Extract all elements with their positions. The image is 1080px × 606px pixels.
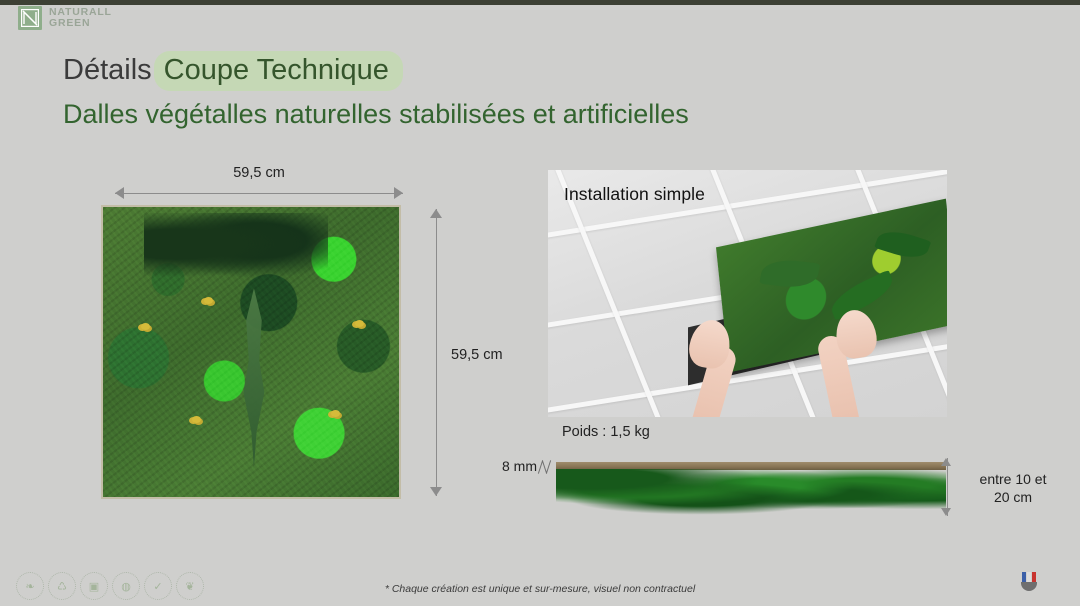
yellow-flower [192, 416, 201, 423]
installation-photo: Installation simple [548, 170, 947, 417]
badge-check: ✓ [144, 572, 172, 600]
yellow-flower [355, 320, 364, 327]
arrow-down-icon [941, 508, 951, 516]
badge-recycle: ♺ [48, 572, 76, 600]
depth-dimension [941, 458, 953, 516]
yellow-flower [204, 297, 213, 304]
badge-leaf: ❧ [16, 572, 44, 600]
tile-width-dimension: 59,5 cm [115, 186, 403, 200]
depth-label-line2: 20 cm [958, 489, 1068, 507]
naturall-green-logo-icon [18, 6, 42, 30]
badge-drop: ◍ [112, 572, 140, 600]
page-subtitle: Dalles végétalles naturelles stabilisées… [63, 99, 689, 130]
hanging-foliage [556, 469, 946, 523]
badge-plant: ❦ [176, 572, 204, 600]
certification-badges: ❧ ♺ ▣ ◍ ✓ ❦ [16, 572, 204, 600]
dark-foliage-cluster [144, 213, 328, 283]
hand-cradle-shape [1021, 582, 1037, 591]
green-wall-tile-photo [103, 207, 399, 497]
arrow-up-icon [941, 458, 951, 466]
slide: NATURALL GREEN DétailsCoupe Technique Da… [0, 0, 1080, 606]
arrow-right-icon [394, 187, 403, 199]
brand-name: NATURALL GREEN [49, 7, 112, 29]
yellow-flower [331, 410, 340, 417]
made-in-france-icon [1018, 570, 1040, 596]
dimension-line [115, 193, 403, 194]
thickness-marker-icon [540, 460, 550, 474]
thickness-label: 8 mm [502, 458, 537, 474]
tile-height-label: 59,5 cm [451, 347, 503, 363]
page-title: DétailsCoupe Technique [63, 56, 403, 85]
arrow-down-icon [430, 487, 442, 496]
arrow-left-icon [115, 187, 124, 199]
ceiling-grid-line [548, 170, 677, 417]
page-title-plain: Détails [63, 54, 152, 86]
depth-label-line1: entre 10 et [958, 471, 1068, 489]
tile-cross-section-photo [556, 462, 946, 524]
leaf [759, 257, 820, 290]
page-title-highlight: Coupe Technique [154, 51, 403, 91]
badge-certificate: ▣ [80, 572, 108, 600]
leaf [874, 226, 931, 263]
weight-label: Poids : 1,5 kg [562, 424, 650, 440]
tile-width-label: 59,5 cm [115, 165, 403, 181]
brand-name-line2: GREEN [49, 18, 112, 29]
arrow-up-icon [430, 209, 442, 218]
dimension-line [436, 209, 437, 496]
installation-label: Installation simple [564, 184, 705, 205]
brand-logo[interactable]: NATURALL GREEN [18, 6, 112, 30]
tile-height-dimension [429, 209, 443, 496]
tile-surface [103, 207, 399, 497]
top-accent-bar [0, 0, 1080, 5]
depth-label: entre 10 et 20 cm [958, 471, 1068, 506]
